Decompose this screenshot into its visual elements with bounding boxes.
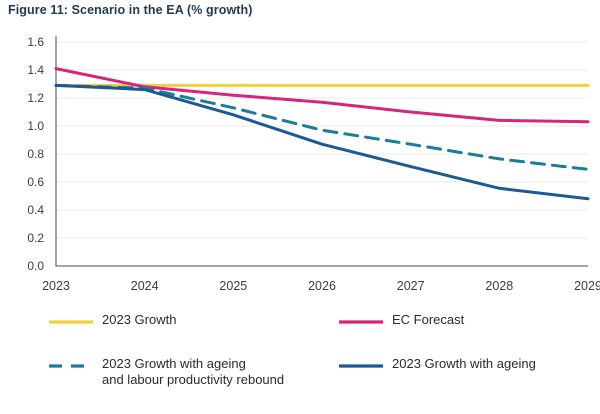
x-axis-tick-labels: 2023202420252026202720282029 <box>42 279 600 293</box>
y-axis-tick-labels: 0.00.20.40.60.81.01.21.41.6 <box>27 35 44 273</box>
x-axis-tick-label: 2026 <box>308 279 336 293</box>
legend-item-label: 2023 Growth with ageing <box>392 356 536 372</box>
y-axis-tick-label: 1.0 <box>27 119 44 133</box>
figure-container: Figure 11: Scenario in the EA (% growth)… <box>0 0 600 414</box>
y-axis-tick-label: 1.2 <box>27 91 44 105</box>
y-axis-tick-label: 0.2 <box>27 231 44 245</box>
legend-swatch-icon <box>48 315 94 329</box>
y-axis-tick-label: 1.6 <box>27 35 44 49</box>
plot-area: 0.00.20.40.60.81.01.21.41.6 202320242025… <box>0 28 600 308</box>
legend-item[interactable]: 2023 Growth with ageing and labour produ… <box>48 356 284 388</box>
line-chart-svg: 0.00.20.40.60.81.01.21.41.6 202320242025… <box>0 28 600 308</box>
x-axis-tick-label: 2028 <box>485 279 513 293</box>
legend-swatch-icon <box>338 315 384 329</box>
x-axis-tick-label: 2029 <box>574 279 600 293</box>
page-title: Figure 11: Scenario in the EA (% growth) <box>8 3 253 17</box>
x-axis-tick-label: 2024 <box>131 279 159 293</box>
legend-swatch-icon <box>48 359 94 373</box>
legend-item[interactable]: 2023 Growth <box>48 312 176 329</box>
legend-item[interactable]: 2023 Growth with ageing <box>338 356 536 373</box>
legend-item[interactable]: EC Forecast <box>338 312 464 329</box>
data-series <box>56 69 588 199</box>
y-axis-tick-label: 0.6 <box>27 175 44 189</box>
legend-item-label: 2023 Growth with ageing and labour produ… <box>102 356 284 388</box>
legend-item-label: 2023 Growth <box>102 312 176 328</box>
y-axis-tick-label: 1.4 <box>27 63 44 77</box>
x-axis-tick-label: 2025 <box>219 279 247 293</box>
y-axis-tick-label: 0.0 <box>27 259 44 273</box>
x-axis-tick-label: 2027 <box>397 279 425 293</box>
series-line <box>56 69 588 122</box>
gridlines <box>56 42 588 238</box>
x-axis-tick-label: 2023 <box>42 279 70 293</box>
legend-swatch-icon <box>338 359 384 373</box>
y-axis-tick-label: 0.8 <box>27 147 44 161</box>
y-axis-tick-label: 0.4 <box>27 203 44 217</box>
legend-item-label: EC Forecast <box>392 312 464 328</box>
chart-legend: 2023 GrowthEC Forecast2023 Growth with a… <box>48 312 588 408</box>
